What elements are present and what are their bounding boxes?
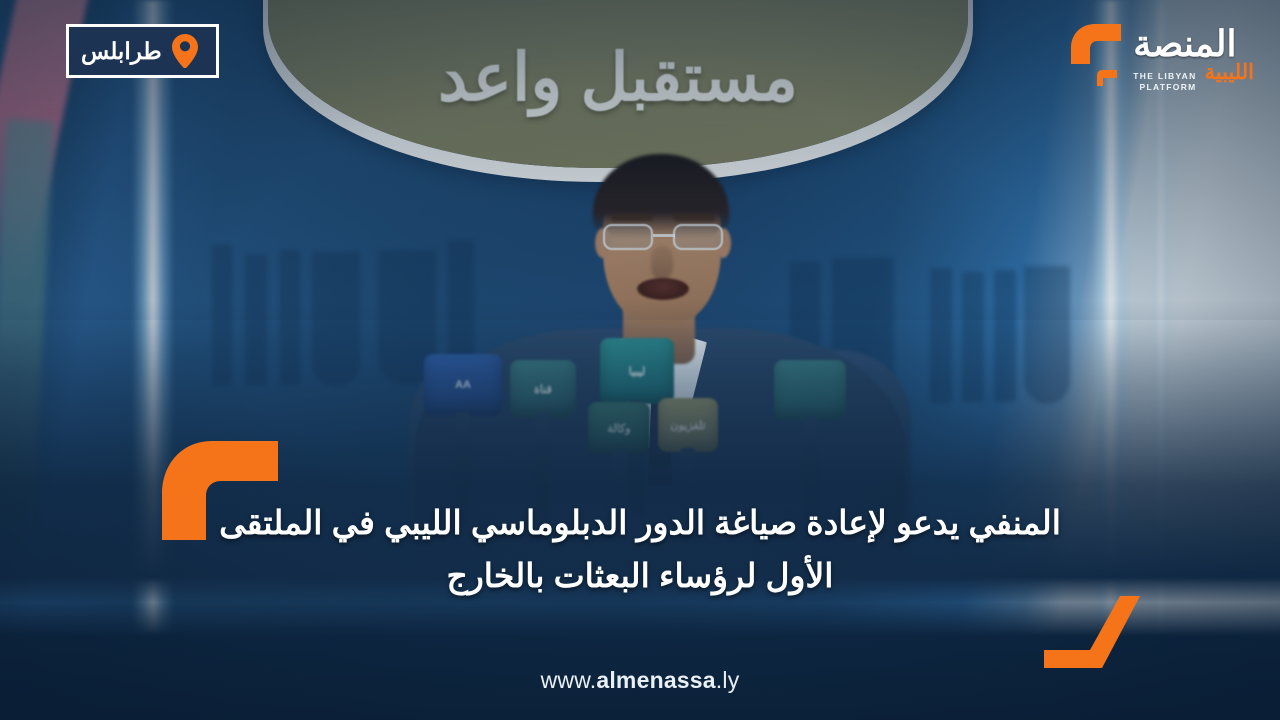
brand-name-sub: الليبية xyxy=(1205,62,1254,83)
location-badge: طرابلس xyxy=(66,24,219,78)
brand-subline: الليبية THE LIBYAN PLATFORM xyxy=(1133,62,1254,92)
news-graphic-canvas: مستقبل واعد xyxy=(0,0,1280,720)
brand-english-line1: THE LIBYAN xyxy=(1133,71,1196,82)
location-pin-icon xyxy=(172,34,198,68)
url-domain: almenassa xyxy=(596,667,715,693)
brand-english-line2: PLATFORM xyxy=(1140,82,1197,93)
url-prefix: www. xyxy=(541,667,597,693)
brand-logo: المنصة الليبية THE LIBYAN PLATFORM xyxy=(1067,22,1254,92)
headline-text: المنفي يدعو لإعادة صياغة الدور الدبلوماس… xyxy=(200,496,1080,603)
url-tld: .ly xyxy=(716,667,740,693)
orange-bracket-logo-icon xyxy=(1067,22,1129,88)
brand-english-name: THE LIBYAN PLATFORM xyxy=(1133,71,1196,92)
website-url[interactable]: www.almenassa.ly xyxy=(0,667,1280,694)
brand-wordmark: المنصة الليبية THE LIBYAN PLATFORM xyxy=(1133,27,1254,92)
location-badge-label: طرابلس xyxy=(81,40,162,63)
brand-name-main: المنصة xyxy=(1133,27,1236,61)
orange-corner-bracket-bottom-right-icon xyxy=(1044,594,1144,672)
